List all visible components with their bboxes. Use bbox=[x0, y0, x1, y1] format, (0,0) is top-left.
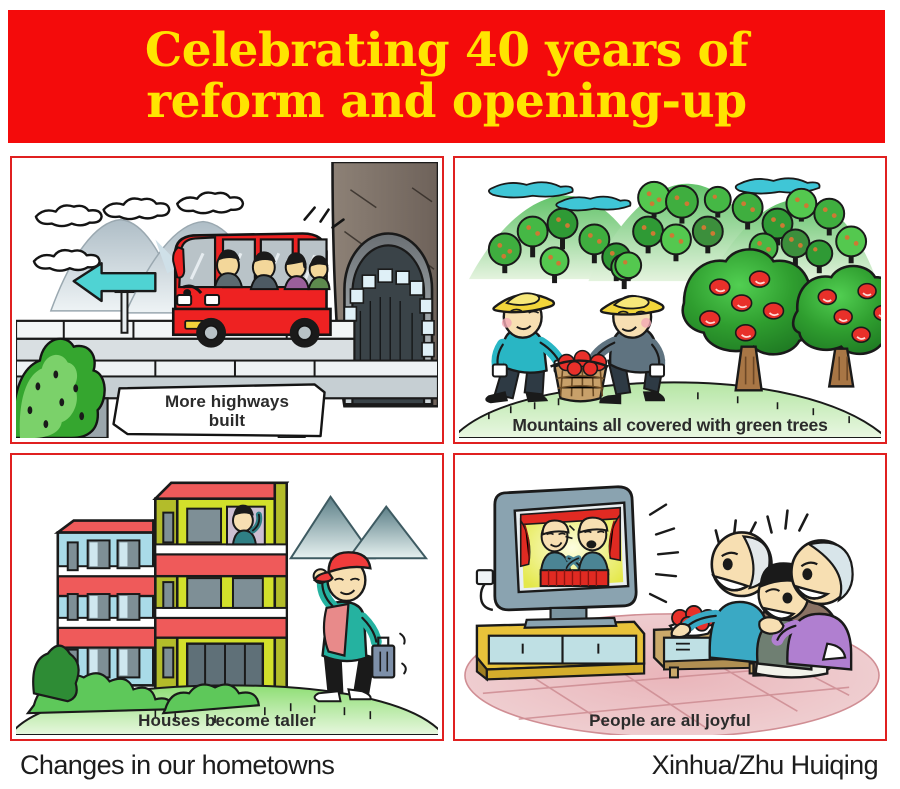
title-line-1: Celebrating 40 years of bbox=[145, 26, 748, 77]
title-line-2: reform and opening-up bbox=[145, 77, 748, 128]
footer: Changes in our hometowns Xinhua/Zhu Huiq… bbox=[0, 748, 900, 789]
poster-root: Celebrating 40 years of reform and openi… bbox=[0, 0, 900, 789]
panel-more-highways-built: More highways built bbox=[10, 156, 444, 444]
footer-left-text: Changes in our hometowns bbox=[20, 750, 334, 781]
panel-grid: More highways built bbox=[8, 156, 889, 742]
television bbox=[477, 487, 636, 628]
title-banner: Celebrating 40 years of reform and openi… bbox=[8, 10, 885, 143]
panel-caption-1: More highways built bbox=[16, 392, 438, 430]
poster-title: Celebrating 40 years of reform and openi… bbox=[145, 26, 748, 128]
footer-credit: Xinhua/Zhu Huiqing bbox=[652, 750, 878, 781]
houses-artwork bbox=[16, 459, 438, 735]
panel-caption-2: Mountains all covered with green trees bbox=[459, 415, 881, 436]
caption-line-1: More highways bbox=[16, 392, 438, 411]
illustration-living-room: People are all joyful bbox=[459, 459, 881, 735]
caption-line-2: built bbox=[16, 411, 438, 430]
panel-mountains-green-trees: Mountains all covered with green trees bbox=[453, 156, 887, 444]
illustration-highway: More highways built bbox=[16, 162, 438, 438]
person-at-window bbox=[227, 505, 265, 545]
orchard-artwork bbox=[459, 162, 881, 438]
panel-people-are-all-joyful: People are all joyful bbox=[453, 453, 887, 741]
apple-basket bbox=[551, 351, 609, 402]
living-room-artwork bbox=[459, 459, 881, 735]
panel-houses-become-taller: Houses become taller bbox=[10, 453, 444, 741]
illustration-houses: Houses become taller bbox=[16, 459, 438, 735]
house-yellow bbox=[155, 483, 286, 690]
illustration-orchard: Mountains all covered with green trees bbox=[459, 162, 881, 438]
panel-caption-4: People are all joyful bbox=[459, 711, 881, 731]
panel-caption-3: Houses become taller bbox=[16, 711, 438, 731]
tv-cabinet bbox=[477, 622, 644, 680]
